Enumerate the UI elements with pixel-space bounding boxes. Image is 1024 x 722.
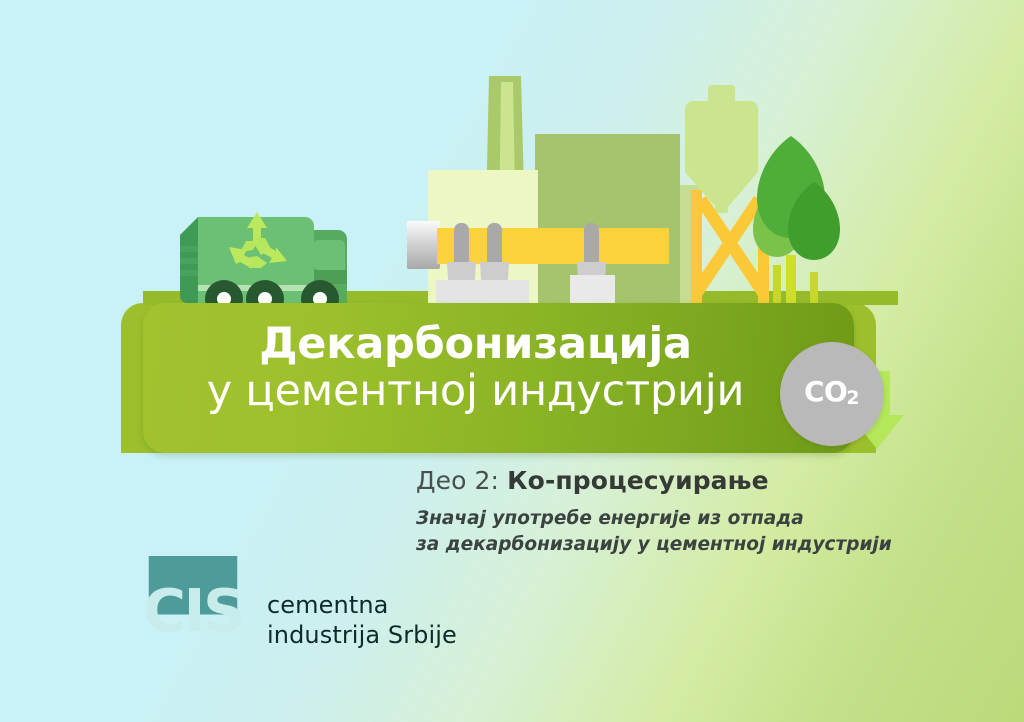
slide-canvas: Декарбонизација у цементној индустрији C…	[0, 0, 1024, 722]
cis-logo-name-line-2: industrija Srbije	[267, 621, 457, 651]
cis-logo-wordmark: cementna industrija Srbije	[267, 591, 457, 651]
tagline-line-1: Значај употребе енергије из отпада	[416, 506, 936, 532]
co2-badge-label: CO2	[780, 375, 884, 408]
cis-logo-name-line-1: cementna	[267, 591, 457, 621]
cis-logo: CIS cementna industrija Srbije	[134, 556, 464, 656]
co2-subscript: 2	[846, 387, 859, 409]
part-prefix: Део 2:	[416, 466, 507, 495]
headline-line-1: Декарбонизација	[143, 323, 808, 366]
part-line: Део 2: Ко-процесуирање	[416, 466, 936, 495]
tagline-line-2: за декарбонизацију у цементној индустриј…	[416, 532, 936, 558]
headline-line-2: у цементној индустрији	[143, 370, 808, 413]
part-name: Ко-процесуирање	[507, 466, 769, 495]
headline-text: Декарбонизација у цементној индустрији	[143, 323, 808, 413]
co2-badge: CO2	[780, 342, 884, 446]
co2-text: CO	[804, 375, 847, 408]
cis-logo-letters: CIS	[143, 577, 243, 645]
tagline: Значај употребе енергије из отпада за де…	[416, 506, 936, 559]
subtitle-block: Део 2: Ко-процесуирање Значај употребе е…	[416, 466, 936, 559]
factory-lattice-tower	[691, 190, 769, 305]
headline-banner: Декарбонизација у цементној индустрији	[143, 303, 854, 453]
cis-logo-mark: CIS	[134, 556, 252, 634]
